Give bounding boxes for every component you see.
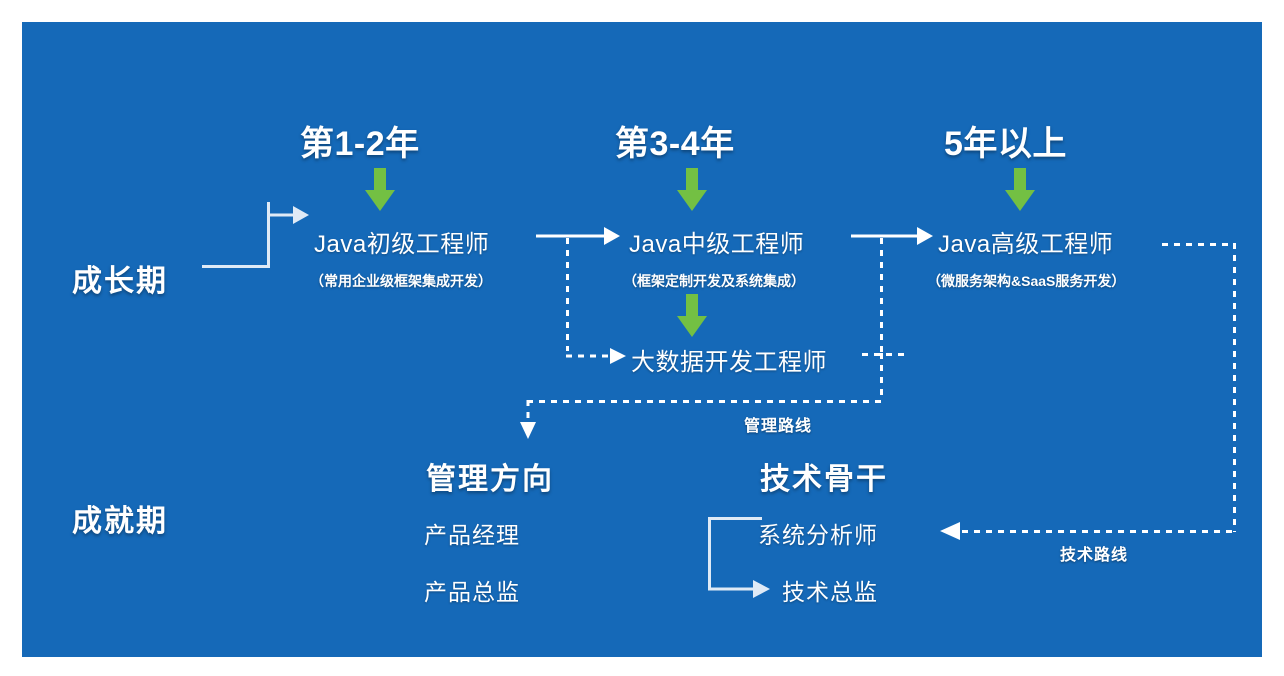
dotted-management-drop: [880, 353, 883, 401]
green-down-arrow-icon-3: [1003, 168, 1037, 212]
green-down-arrow-icon-4: [675, 294, 709, 338]
role-bigdata-engineer: 大数据开发工程师: [631, 342, 827, 377]
dotted-senior-down-vertical: [880, 238, 883, 356]
role-java-junior: Java初级工程师: [314, 224, 489, 259]
dotted-technical-horizontal: [962, 530, 1236, 533]
diagram-panel: 第1-2年 第3-4年 5年以上 成长期 成就期 Java初级工程师 （常用企业…: [22, 22, 1262, 657]
era-header-2: 第3-4年: [615, 116, 735, 165]
branch-item-product-manager: 产品经理: [424, 516, 520, 550]
dotted-branch-to-bigdata-vertical: [566, 238, 569, 351]
arrow-head-to-tech-director: [708, 578, 770, 600]
dotted-technical-vertical: [1233, 243, 1236, 532]
dotted-management-horizontal: [527, 400, 883, 403]
branch-heading-management: 管理方向: [426, 454, 554, 498]
branch-item-tech-director: 技术总监: [782, 573, 878, 607]
arrow-head-management-down: [518, 400, 538, 440]
branch-item-product-director: 产品总监: [424, 573, 520, 607]
dotted-bigdata-right: [862, 353, 908, 356]
era-header-1: 第1-2年: [300, 116, 420, 165]
role-java-senior: Java高级工程师: [938, 224, 1113, 259]
green-down-arrow-icon-1: [363, 168, 397, 212]
arrow-junior-to-middle: [536, 225, 620, 247]
green-down-arrow-icon-2: [675, 168, 709, 212]
role-java-middle-subtitle: （框架定制开发及系统集成）: [623, 271, 805, 291]
phase-label-achievement: 成就期: [72, 496, 168, 540]
bracket-top-horizontal: [708, 517, 762, 520]
role-java-senior-subtitle: （微服务架构&SaaS服务开发）: [927, 271, 1125, 291]
arrow-head-technical-left: [940, 520, 970, 542]
arrow-head-to-bigdata: [566, 346, 626, 366]
connector-growth-horizontal: [202, 265, 270, 268]
role-java-middle: Java中级工程师: [629, 224, 804, 259]
role-java-junior-subtitle: （常用企业级框架集成开发）: [310, 271, 492, 291]
dotted-technical-top: [1162, 243, 1236, 246]
route-label-technical: 技术路线: [1060, 541, 1128, 565]
phase-label-growth: 成长期: [72, 256, 168, 300]
arrow-head-to-junior: [267, 204, 309, 226]
diagram-root: 第1-2年 第3-4年 5年以上 成长期 成就期 Java初级工程师 （常用企业…: [0, 0, 1284, 676]
branch-item-system-analyst: 系统分析师: [758, 516, 878, 550]
era-header-3: 5年以上: [944, 116, 1067, 165]
branch-heading-technical: 技术骨干: [760, 454, 888, 498]
route-label-management: 管理路线: [744, 412, 812, 436]
arrow-middle-to-senior: [851, 225, 933, 247]
